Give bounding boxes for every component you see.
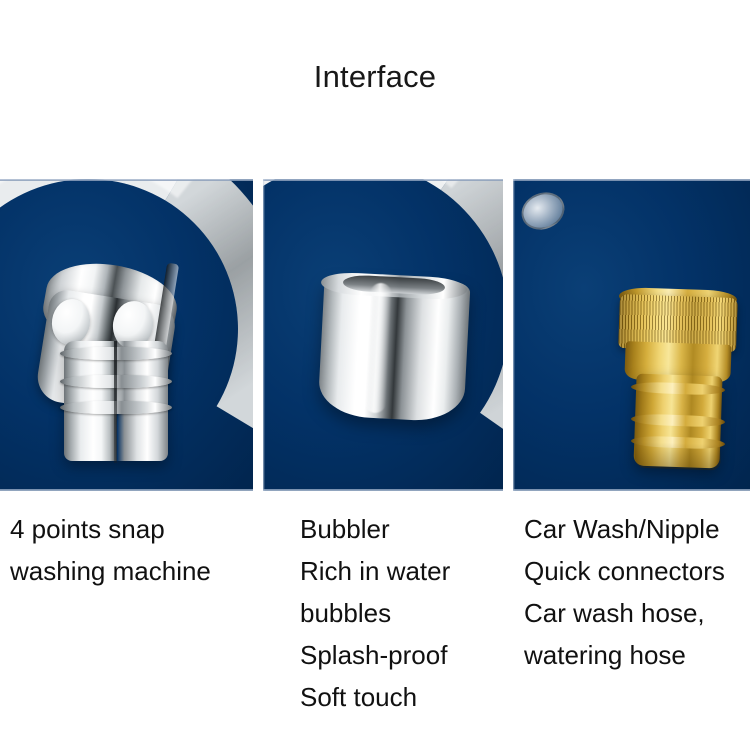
panel-edge-left [513, 179, 515, 491]
panel-edge-top [513, 179, 750, 181]
panel-edge-bottom [513, 489, 750, 491]
caption-bubbler: Bubbler Rich in water bubbles Splash-pro… [300, 508, 450, 718]
faucet-illustration-bubbler [263, 179, 503, 491]
page-title: Interface [0, 58, 750, 96]
product-image-bubbler [263, 179, 503, 491]
caption-line: Bubbler [300, 508, 450, 550]
product-image-4-point-snap [0, 179, 253, 491]
panel-edge-bottom [0, 489, 253, 491]
panel-edge-top [0, 179, 253, 181]
caption-line: washing machine [10, 550, 211, 592]
caption-4-point-snap: 4 points snap washing machine [10, 508, 211, 592]
caption-line: Car wash hose, [524, 592, 725, 634]
caption-line: Car Wash/Nipple [524, 508, 725, 550]
connector-seam [114, 341, 117, 463]
caption-line: watering hose [524, 634, 725, 676]
panel-edge-left [263, 179, 265, 491]
panel-edge-top [263, 179, 503, 181]
caption-line: bubbles [300, 592, 450, 634]
brass-bottom-shadow [635, 442, 722, 471]
faucet-illustration-4-point-snap [0, 179, 253, 491]
caption-line: Quick connectors [524, 550, 725, 592]
caption-line: Rich in water [300, 550, 450, 592]
caption-line: Soft touch [300, 676, 450, 718]
product-image-car-wash-nipple [513, 179, 750, 491]
panel-edge-bottom [263, 489, 503, 491]
caption-car-wash-nipple: Car Wash/Nipple Quick connectors Car was… [524, 508, 725, 676]
caption-line: Splash-proof [300, 634, 450, 676]
faucet-illustration-car-wash-nipple [513, 179, 750, 491]
product-image-strip [0, 179, 750, 491]
caption-line: 4 points snap [10, 508, 211, 550]
